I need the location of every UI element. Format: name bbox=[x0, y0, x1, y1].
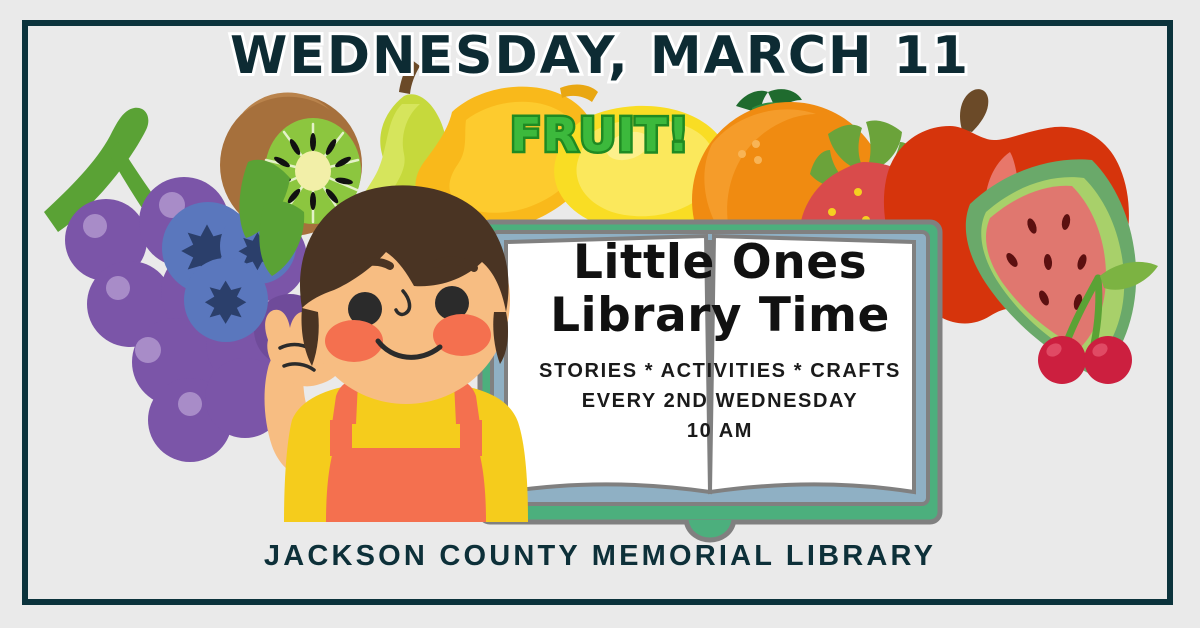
library-name: JACKSON COUNTY MEMORIAL LIBRARY bbox=[0, 540, 1200, 573]
program-detail-activities: STORIES * ACTIVITIES * CRAFTS bbox=[505, 356, 935, 386]
book-text-block: Little Ones Library Time STORIES * ACTIV… bbox=[505, 236, 935, 446]
flyer-canvas: WEDNESDAY, MARCH 11 FRUIT! Little Ones L… bbox=[0, 0, 1200, 628]
program-detail-schedule: EVERY 2ND WEDNESDAY bbox=[505, 386, 935, 416]
program-title-line-1: Little Ones bbox=[505, 236, 935, 289]
program-detail-time: 10 AM bbox=[505, 416, 935, 446]
child-illustration bbox=[265, 185, 528, 522]
program-title-line-2: Library Time bbox=[505, 289, 935, 342]
program-details: STORIES * ACTIVITIES * CRAFTS EVERY 2ND … bbox=[505, 356, 935, 446]
theme-subtitle: FRUIT! bbox=[0, 108, 1200, 162]
page-title: WEDNESDAY, MARCH 11 bbox=[0, 26, 1200, 86]
